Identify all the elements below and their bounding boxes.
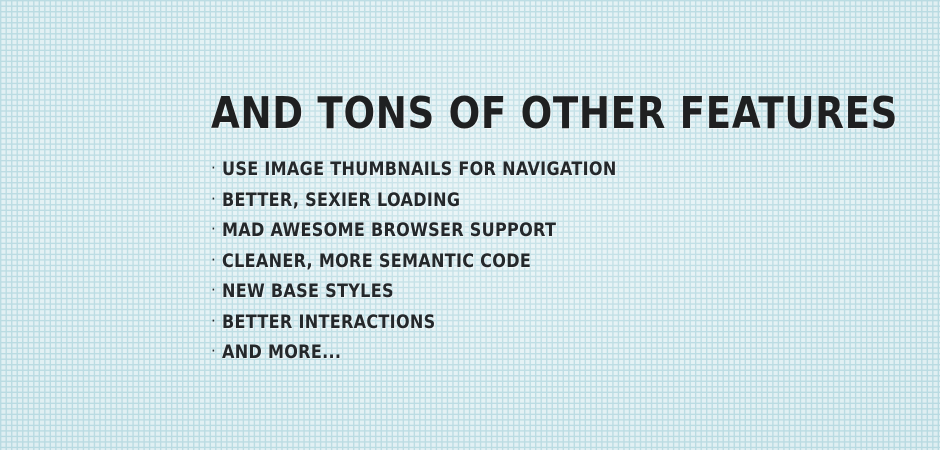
list-item-label: AND MORE...: [222, 341, 341, 363]
list-item-label: MAD AWESOME BROWSER SUPPORT: [222, 219, 556, 241]
list-item: · NEW BASE STYLES: [211, 280, 940, 311]
bullet-icon: ·: [211, 340, 222, 362]
feature-list: · USE IMAGE THUMBNAILS FOR NAVIGATION · …: [211, 158, 940, 372]
bullet-icon: ·: [211, 310, 222, 332]
slide-content: AND TONS OF OTHER FEATURES · USE IMAGE T…: [211, 88, 940, 372]
presentation-slide: AND TONS OF OTHER FEATURES · USE IMAGE T…: [0, 0, 940, 450]
list-item: · BETTER, SEXIER LOADING: [211, 189, 940, 220]
list-item: · BETTER INTERACTIONS: [211, 311, 940, 342]
bullet-icon: ·: [211, 188, 222, 210]
list-item-label: CLEANER, MORE SEMANTIC CODE: [222, 250, 531, 272]
list-item-label: BETTER, SEXIER LOADING: [222, 189, 460, 211]
bullet-icon: ·: [211, 249, 222, 271]
list-item-label: NEW BASE STYLES: [222, 280, 394, 302]
list-item-label: USE IMAGE THUMBNAILS FOR NAVIGATION: [222, 158, 617, 180]
slide-heading: AND TONS OF OTHER FEATURES: [211, 88, 898, 140]
bullet-icon: ·: [211, 218, 222, 240]
list-item: · MAD AWESOME BROWSER SUPPORT: [211, 219, 940, 250]
bullet-icon: ·: [211, 279, 222, 301]
list-item-label: BETTER INTERACTIONS: [222, 311, 435, 333]
list-item: · AND MORE...: [211, 341, 940, 372]
list-item: · USE IMAGE THUMBNAILS FOR NAVIGATION: [211, 158, 940, 189]
bullet-icon: ·: [211, 157, 222, 179]
list-item: · CLEANER, MORE SEMANTIC CODE: [211, 250, 940, 281]
